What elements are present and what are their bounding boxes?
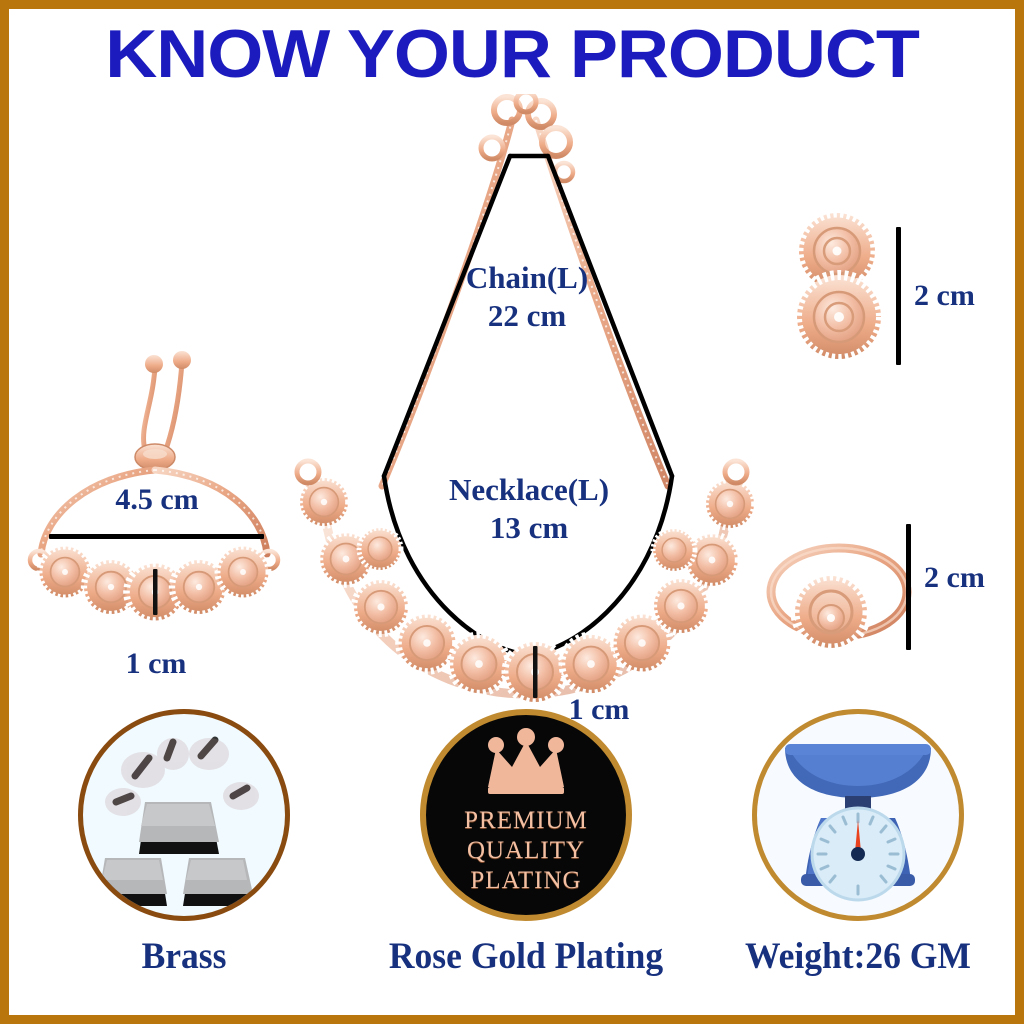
content-stage: KNOW YOUR PRODUCT (9, 9, 1015, 1015)
necklace-illustration (264, 94, 784, 719)
seal-line-1: PREMIUM (426, 807, 626, 835)
ring-illustration (751, 524, 931, 659)
metal-bars-icon (78, 709, 290, 921)
seal-line-2: QUALITY (426, 837, 626, 865)
infographic-frame: KNOW YOUR PRODUCT (0, 0, 1024, 1024)
chain-length-label: Chain(L) (407, 259, 647, 297)
badge-rose-gold-plating: PREMIUM QUALITY PLATING Rose Gold Platin… (381, 709, 671, 978)
bracelet-width-value: 4.5 cm (57, 481, 257, 519)
page-title: KNOW YOUR PRODUCT (0, 17, 1024, 91)
necklace-chain-dimension: Chain(L) 22 cm (407, 259, 647, 335)
necklace-drop-dimension: Necklace(L) 13 cm (399, 471, 659, 547)
earrings-illustration (787, 209, 887, 369)
weighing-scale-icon (752, 709, 964, 921)
badge-weight: Weight:26 GM (713, 709, 1003, 978)
badge-brass: Brass (39, 709, 329, 978)
bracelet-width-rule (49, 534, 264, 539)
badge-weight-label: Weight:26 GM (719, 935, 997, 978)
seal-line-3: PLATING (426, 867, 626, 895)
badge-brass-label: Brass (45, 935, 323, 978)
crown-quality-seal-icon: PREMIUM QUALITY PLATING (420, 709, 632, 921)
chain-length-value: 22 cm (407, 297, 647, 335)
ring-size-value: 2 cm (924, 559, 1024, 597)
earrings-height-rule (896, 227, 901, 365)
earrings-size-value: 2 cm (914, 277, 1024, 315)
badge-rose-gold-plating-label: Rose Gold Plating (387, 935, 665, 978)
necklace-length-value: 13 cm (399, 509, 659, 547)
necklace-length-label: Necklace(L) (399, 471, 659, 509)
bracelet-station-dimension-value: 1 cm (61, 645, 251, 683)
ring-height-rule (906, 524, 911, 650)
